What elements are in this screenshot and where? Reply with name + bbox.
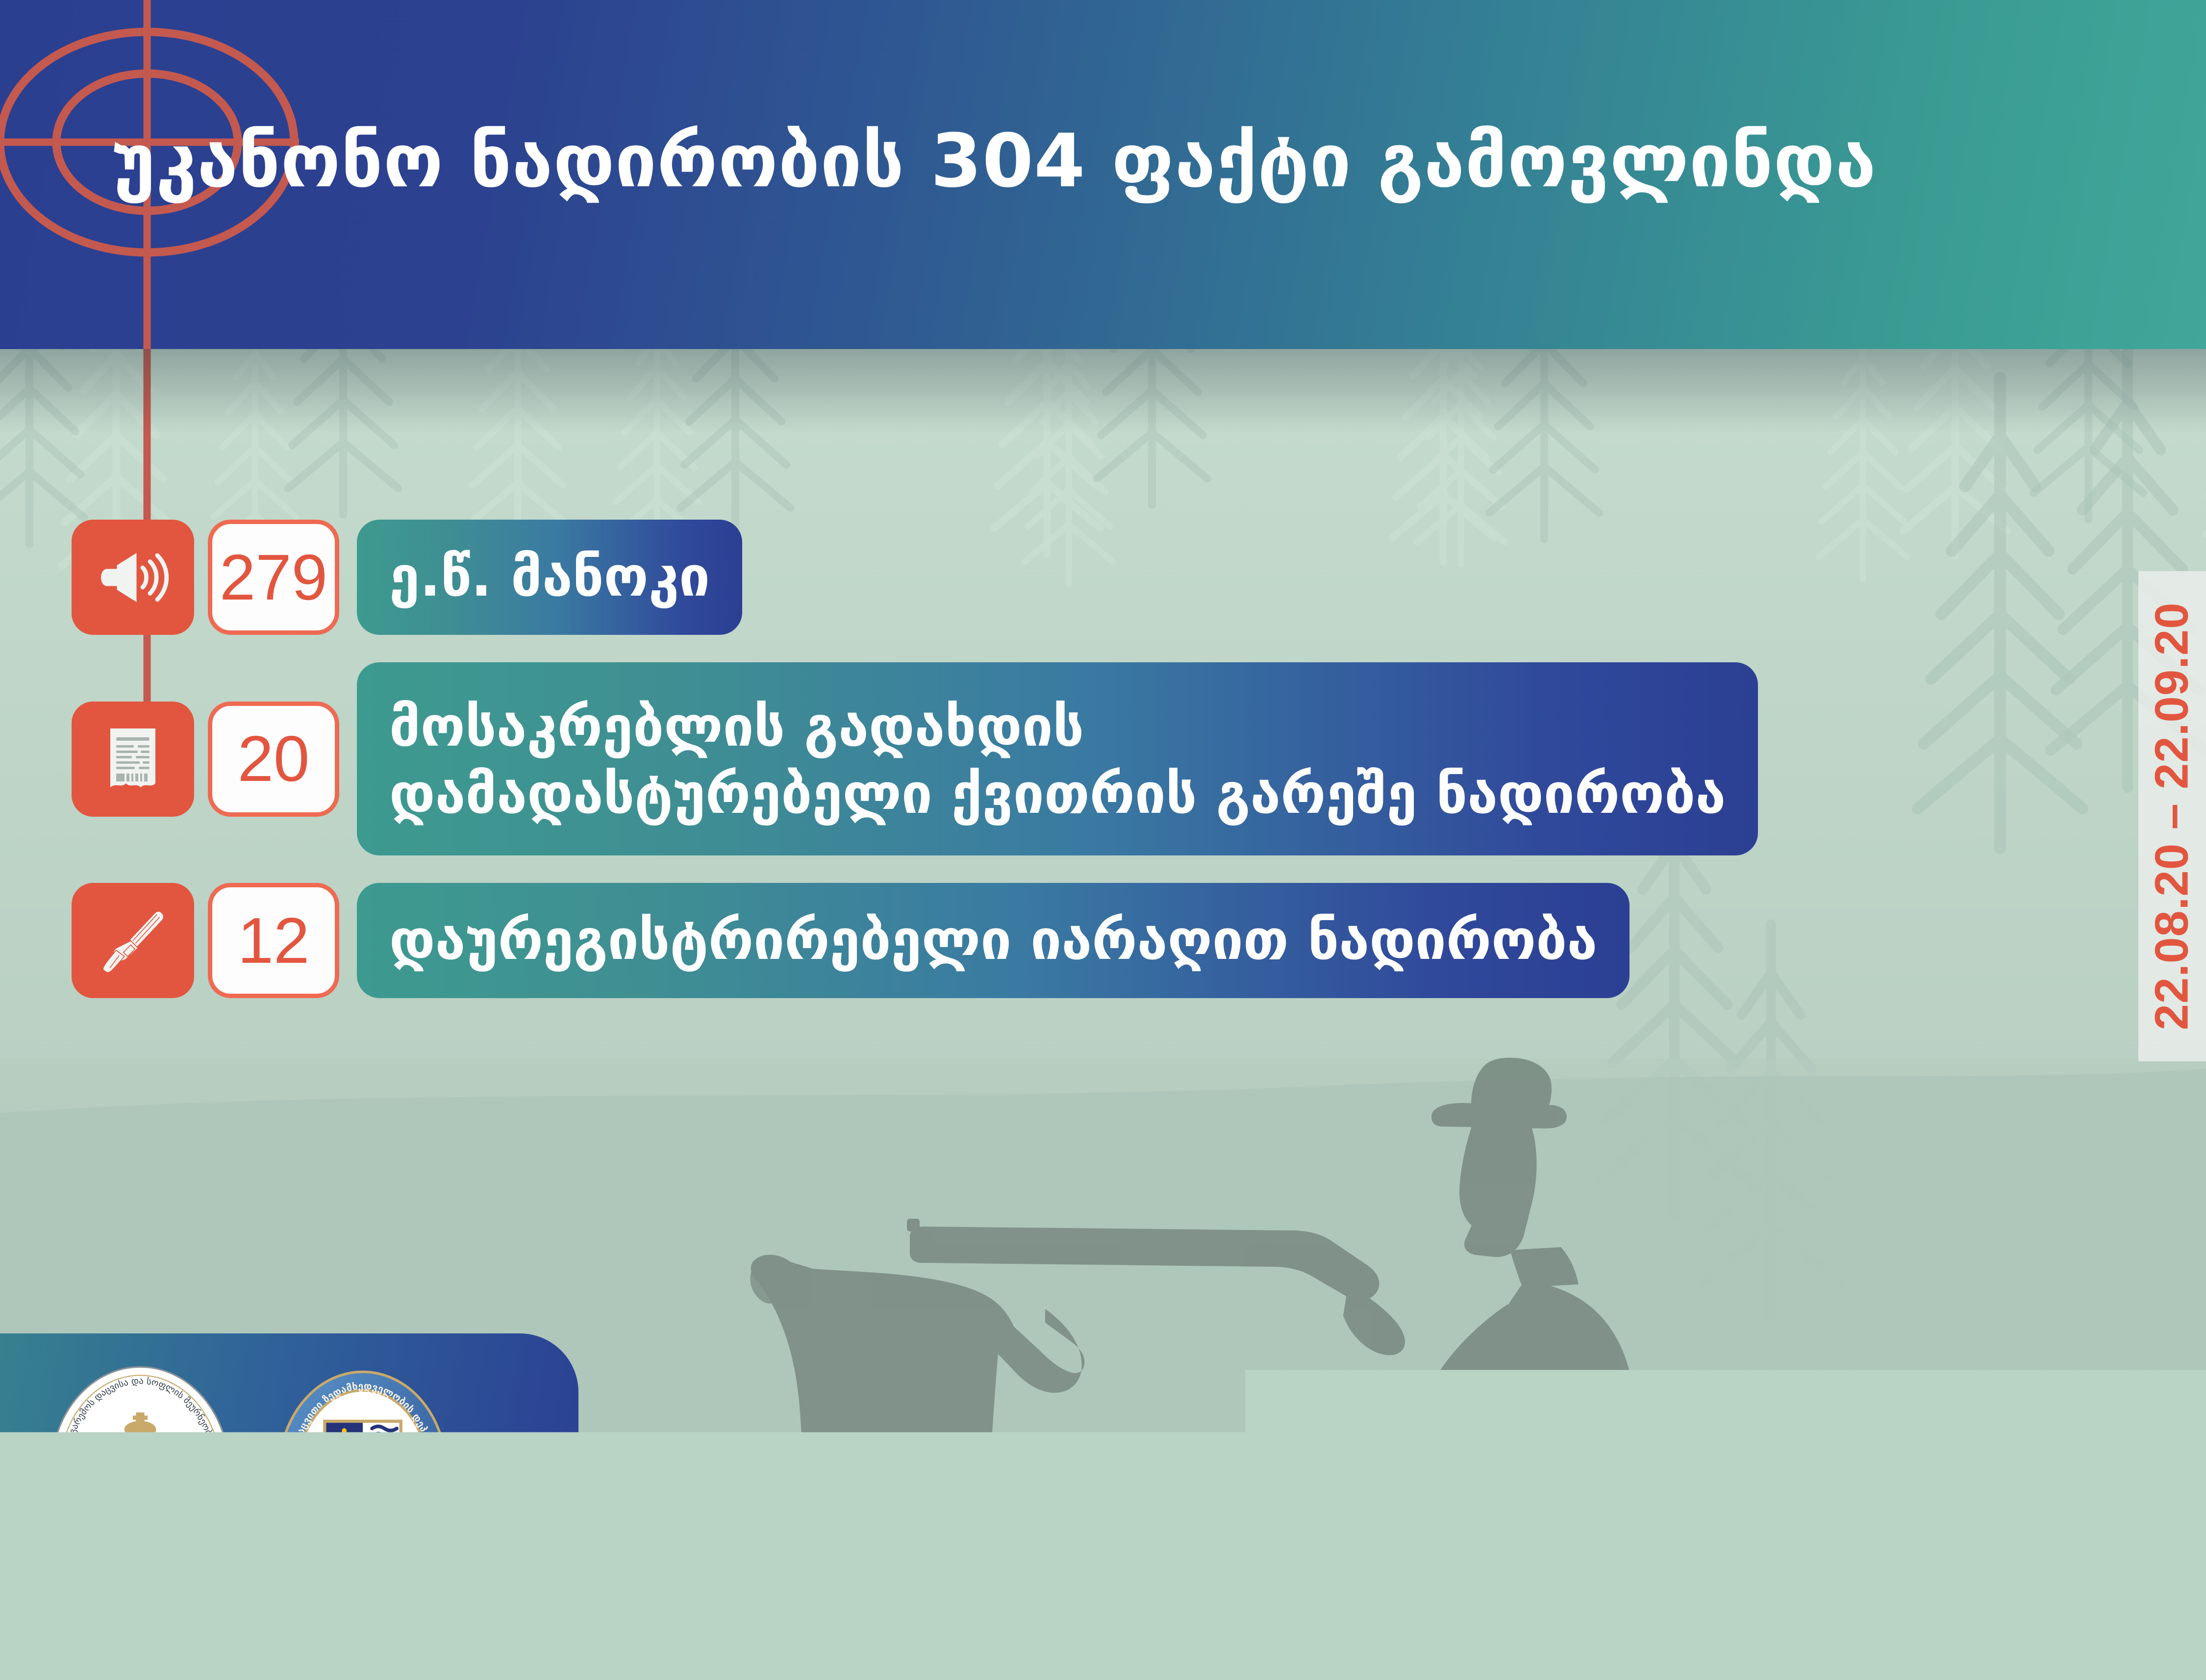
stat-row: 12 დაურეგისტრირებელი იარაღით ნადირობა [0, 883, 2206, 998]
stat-row: 279 ე.წ. მანოკი [0, 520, 2206, 635]
stat-label: მოსაკრებლის გადახდის [389, 694, 1726, 761]
infographic-poster: უკანონო ნადირობის 304 ფაქტი გამოვლინდა [0, 0, 2206, 1680]
stat-label: დაურეგისტრირებელი იარაღით ნადირობა [389, 907, 1597, 974]
hotline-word-1: ცხელი [1765, 1417, 1923, 1468]
logo-plate: საქართველოს გარემოს დაცვისა და სოფლის მე… [0, 1333, 578, 1608]
stat-count: 12 [208, 883, 339, 998]
stat-row: 20 მოსაკრებლის გადახდის დამადასტურებელი … [0, 662, 2206, 855]
ministry-seal-english-3: of Georgia [111, 1540, 170, 1552]
header-band: უკანონო ნადირობის 304 ფაქტი გამოვლინდა [0, 0, 2206, 349]
page-title: უკანონო ნადირობის 304 ფაქტი გამოვლინდა [112, 122, 2082, 201]
stat-count: 20 [208, 702, 339, 817]
rifle-icon [72, 883, 194, 998]
loudspeaker-icon [72, 520, 194, 635]
receipt-icon [72, 702, 194, 817]
environmental-supervision-seal: გარემოსდაცვითი ზედამხედველობის დეპარტამე… [260, 1368, 466, 1574]
stats-list: 279 ე.წ. მანოკი [0, 520, 2206, 1026]
stat-label: ე.წ. მანოკი [389, 544, 710, 611]
ministry-of-environment-seal: საქართველოს გარემოს დაცვისა და სოფლის მე… [34, 1365, 246, 1577]
hotline-words: ცხელი ხაზი [1765, 1417, 1923, 1520]
ministry-seal-english-1: Ministry of Environmental [67, 1516, 214, 1528]
stat-label-bar: დაურეგისტრირებელი იარაღით ნადირობა [357, 883, 1629, 998]
hotline-word-2: ხაზი [1765, 1468, 1923, 1520]
ministry-seal-motto: ძალა ერთობაშია [111, 1498, 169, 1506]
stat-count: 279 [208, 520, 339, 635]
hotline-number: 153 [1936, 1412, 2146, 1525]
hotline-badge: ცხელი ხაზი 153 [1765, 1412, 2146, 1525]
stat-label-bar: მოსაკრებლის გადახდის დამადასტურებელი ქვი… [357, 662, 1758, 855]
date-range-label: 22.08.20 – 22.09.20 [2145, 602, 2199, 1030]
date-range-badge: 22.08.20 – 22.09.20 [2138, 571, 2206, 1061]
stat-label-bar: ე.წ. მანოკი [357, 520, 742, 635]
stat-label-line2: დამადასტურებელი ქვითრის გარეშე ნადირობა [389, 761, 1726, 828]
ministry-seal-english-2: Protection and Agriculture [65, 1528, 216, 1540]
ministry-seal-website: mepa.gov.ge [115, 1555, 166, 1564]
